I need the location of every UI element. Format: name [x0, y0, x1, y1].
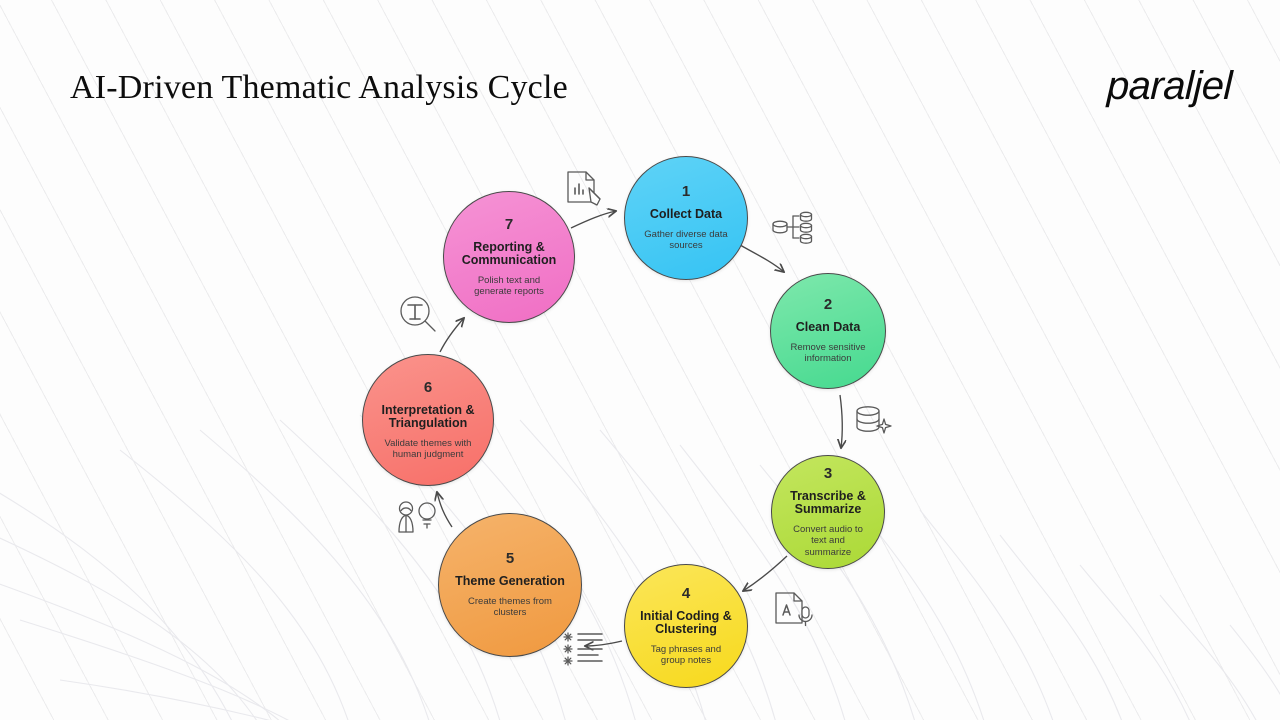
node-number: 1 — [682, 184, 690, 199]
arrow-4-to-5 — [585, 641, 622, 646]
cycle-node-7[interactable]: 7Reporting & CommunicationPolish text an… — [443, 191, 575, 323]
node-description: Tag phrases and group notes — [625, 644, 747, 667]
node-description: Validate themes with human judgment — [363, 438, 493, 461]
node-description: Gather diverse data sources — [625, 229, 747, 252]
database-sparkle-icon — [857, 407, 891, 433]
cycle-node-6[interactable]: 6Interpretation & TriangulationValidate … — [362, 354, 494, 486]
cycle-node-2[interactable]: 2Clean DataRemove sensitive information — [770, 273, 886, 389]
transcribe-icon — [776, 593, 812, 626]
node-title: Reporting & Communication — [444, 241, 574, 268]
node-title: Interpretation & Triangulation — [363, 404, 493, 431]
node-title: Theme Generation — [446, 575, 574, 589]
node-number: 4 — [682, 586, 690, 601]
arrow-3-to-4 — [743, 556, 787, 591]
node-description: Convert audio to text and summarize — [772, 524, 884, 559]
arrow-5-to-6 — [437, 492, 452, 527]
report-edit-icon — [568, 172, 600, 205]
node-title: Transcribe & Summarize — [772, 490, 884, 517]
cycle-node-3[interactable]: 3Transcribe & SummarizeConvert audio to … — [771, 455, 885, 569]
cycle-node-5[interactable]: 5Theme GenerationCreate themes from clus… — [438, 513, 582, 657]
node-number: 6 — [424, 380, 432, 395]
node-number: 7 — [505, 217, 513, 232]
node-description: Polish text and generate reports — [444, 275, 574, 298]
person-idea-icon — [399, 502, 435, 532]
node-title: Clean Data — [787, 321, 870, 335]
node-number: 3 — [824, 466, 832, 481]
node-title: Initial Coding & Clustering — [625, 610, 747, 637]
slide-canvas: AI-Driven Thematic Analysis Cycle paralj… — [0, 0, 1280, 720]
node-description: Remove sensitive information — [771, 342, 885, 365]
data-sources-icon — [773, 212, 812, 243]
tag-list-icon — [564, 633, 602, 665]
node-number: 5 — [506, 551, 514, 566]
node-description: Create themes from clusters — [439, 596, 581, 619]
cycle-node-1[interactable]: 1Collect DataGather diverse data sources — [624, 156, 748, 280]
cycle-node-4[interactable]: 4Initial Coding & ClusteringTag phrases … — [624, 564, 748, 688]
arrow-2-to-3 — [840, 395, 842, 448]
node-number: 2 — [824, 297, 832, 312]
arrow-7-to-1 — [571, 211, 616, 228]
arrow-6-to-7 — [440, 318, 464, 352]
text-search-icon — [401, 297, 435, 331]
node-title: Collect Data — [641, 208, 731, 222]
